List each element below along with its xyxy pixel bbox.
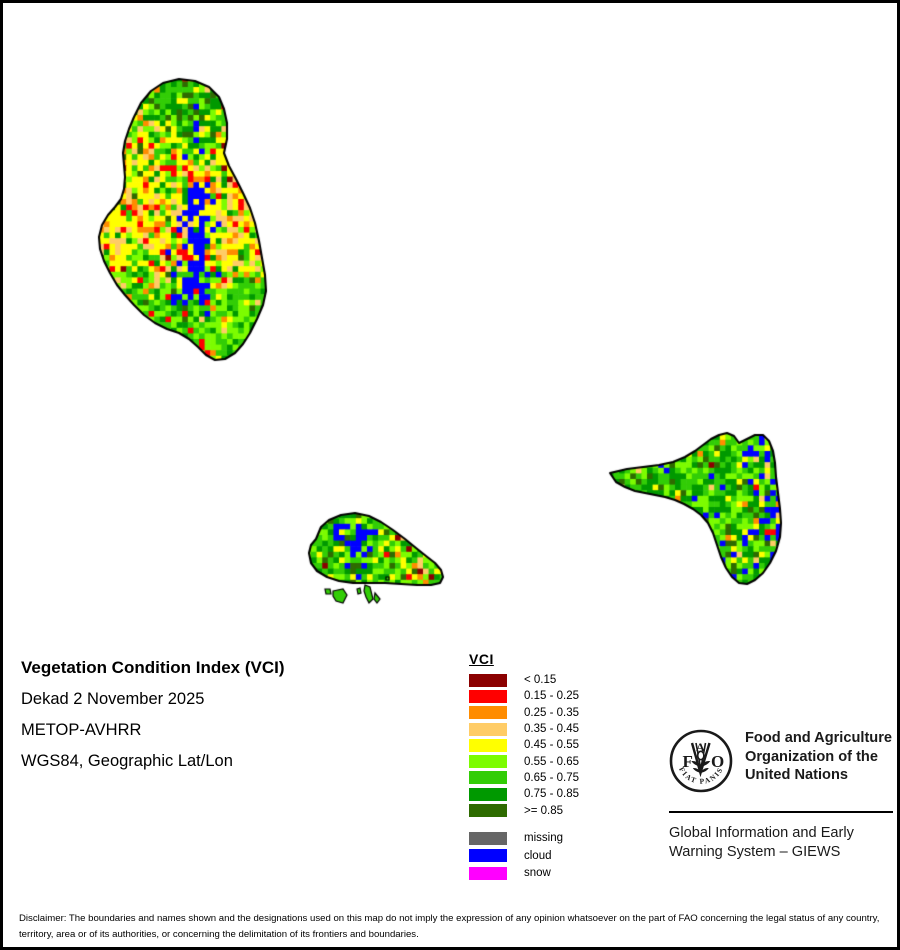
map-page: Comoros Vegetation Condition Index (VCI)…: [0, 0, 900, 950]
fao-branding-block: F O A: [669, 729, 893, 862]
legend-extra-swatch: [469, 867, 507, 880]
map-legend: VCI < 0.150.15 - 0.250.25 - 0.350.35 - 0…: [469, 651, 579, 882]
fao-name-line-3: United Nations: [745, 766, 892, 785]
legend-class-swatch: [469, 788, 507, 801]
fao-organization-name: Food and Agriculture Organization of the…: [745, 729, 892, 785]
legend-class-swatch: [469, 674, 507, 687]
map-info-block: Vegetation Condition Index (VCI) Dekad 2…: [21, 658, 441, 783]
giews-system-name: Global Information and Early Warning Sys…: [669, 824, 893, 862]
legend-class-row: 0.65 - 0.75: [469, 770, 579, 786]
legend-class-label: 0.15 - 0.25: [524, 690, 579, 702]
giews-line-1: Global Information and Early: [669, 824, 893, 843]
legend-class-swatch: [469, 706, 507, 719]
legend-title: VCI: [469, 651, 579, 667]
legend-class-row: >= 0.85: [469, 802, 579, 818]
legend-class-list: < 0.150.15 - 0.250.25 - 0.350.35 - 0.450…: [469, 672, 579, 819]
legend-class-row: 0.35 - 0.45: [469, 721, 579, 737]
legend-extra-row: snow: [469, 865, 579, 883]
legend-class-label: 0.75 - 0.85: [524, 788, 579, 800]
legend-extra-swatch: [469, 832, 507, 845]
giews-line-2: Warning System – GIEWS: [669, 843, 893, 862]
legend-extra-row: cloud: [469, 847, 579, 865]
legend-class-label: >= 0.85: [524, 805, 563, 817]
legend-extra-label: missing: [524, 832, 563, 844]
legend-class-swatch: [469, 771, 507, 784]
legend-class-row: < 0.15: [469, 672, 579, 688]
fao-emblem-icon: F O A: [669, 729, 733, 798]
legend-class-row: 0.55 - 0.65: [469, 753, 579, 769]
legend-class-label: < 0.15: [524, 674, 556, 686]
legend-class-row: 0.45 - 0.55: [469, 737, 579, 753]
legend-class-row: 0.15 - 0.25: [469, 688, 579, 704]
fao-name-line-2: Organization of the: [745, 748, 892, 767]
legend-class-row: 0.25 - 0.35: [469, 705, 579, 721]
legend-extra-label: cloud: [524, 850, 552, 862]
legend-extra-row: missing: [469, 830, 579, 848]
info-projection: WGS84, Geographic Lat/Lon: [21, 752, 441, 771]
legend-class-label: 0.45 - 0.55: [524, 739, 579, 751]
legend-class-label: 0.55 - 0.65: [524, 756, 579, 768]
info-sensor: METOP-AVHRR: [21, 721, 441, 740]
legend-class-row: 0.75 - 0.85: [469, 786, 579, 802]
fao-divider: [669, 811, 893, 813]
legend-class-swatch: [469, 755, 507, 768]
legend-class-swatch: [469, 739, 507, 752]
info-period: Dekad 2 November 2025: [21, 690, 441, 709]
legend-extra-swatch: [469, 849, 507, 862]
legend-class-swatch: [469, 804, 507, 817]
legend-class-label: 0.25 - 0.35: [524, 707, 579, 719]
legend-class-swatch: [469, 690, 507, 703]
disclaimer-text: Disclaimer: The boundaries and names sho…: [19, 911, 881, 943]
legend-class-label: 0.35 - 0.45: [524, 723, 579, 735]
legend-extra-label: snow: [524, 867, 551, 879]
legend-class-label: 0.65 - 0.75: [524, 772, 579, 784]
legend-extra-list: missingcloudsnow: [469, 830, 579, 883]
info-product: Vegetation Condition Index (VCI): [21, 658, 441, 678]
fao-name-line-1: Food and Agriculture: [745, 729, 892, 748]
legend-class-swatch: [469, 723, 507, 736]
